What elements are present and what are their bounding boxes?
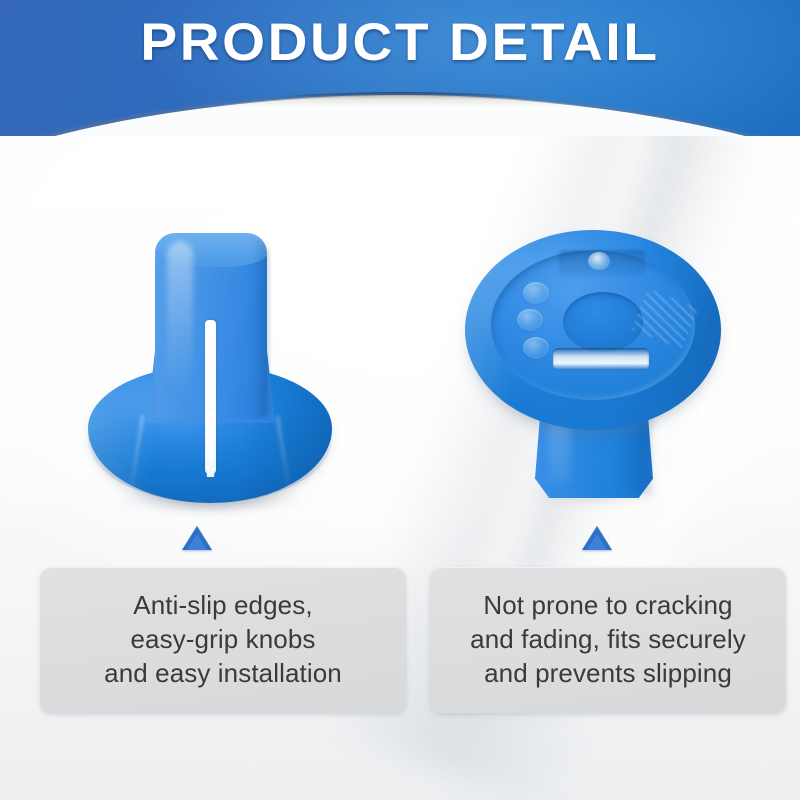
page-title: PRODUCT DETAIL <box>0 16 800 69</box>
caption-box-durability: Not prone to cracking and fading, fits s… <box>430 567 786 713</box>
molded-bump-2 <box>517 309 543 331</box>
product-image-knob-front <box>75 225 345 515</box>
up-triangle-icon-left-inner <box>187 534 207 550</box>
up-triangle-icon-right-inner <box>587 534 607 550</box>
caption-box-anti-slip: Anti-slip edges, easy-grip knobs and eas… <box>40 567 406 713</box>
product-detail-page: PRODUCT DETAIL <box>0 0 800 800</box>
knob-front-gloss <box>167 241 193 391</box>
product-image-knob-underside <box>465 230 725 495</box>
header-banner: PRODUCT DETAIL <box>0 0 800 136</box>
knob-underside-screw-mark <box>588 252 610 270</box>
caption-text-durability: Not prone to cracking and fading, fits s… <box>470 589 746 690</box>
knob-underside-bottom-slot <box>553 348 649 370</box>
knob-front-right-edge-shading <box>251 239 269 417</box>
knob-underside-center-boss <box>563 292 643 352</box>
molded-bump-3 <box>523 337 549 359</box>
molded-bump-1 <box>523 282 549 304</box>
caption-text-anti-slip: Anti-slip edges, easy-grip knobs and eas… <box>104 589 342 690</box>
